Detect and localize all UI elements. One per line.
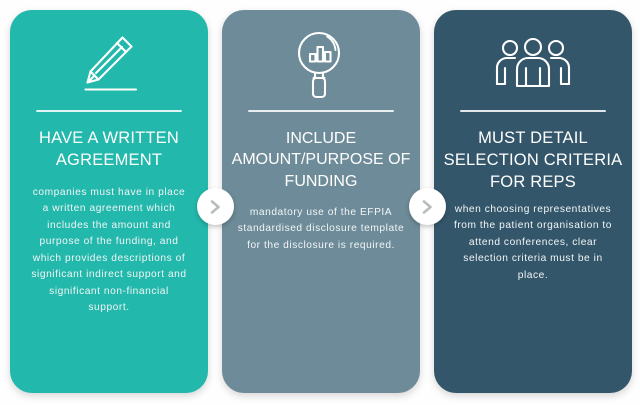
infographic-canvas: HAVE A WRITTEN AGREEMENT companies must … — [0, 0, 640, 405]
card-heading: HAVE A WRITTEN AGREEMENT — [18, 128, 200, 172]
card-body: mandatory use of the EFPIA standardised … — [237, 205, 405, 255]
card-divider — [36, 110, 182, 112]
info-card-include-amount-purpose-of-funding[interactable]: INCLUDE AMOUNT/PURPOSE OF FUNDING mandat… — [222, 10, 420, 393]
chevron-right-icon — [420, 198, 435, 216]
info-card-must-detail-selection-criteria-for-reps[interactable]: MUST DETAIL SELECTION CRITERIA FOR REPS … — [434, 10, 632, 393]
card-body: companies must have in place a written a… — [28, 185, 190, 317]
connector-arrow-2[interactable] — [409, 188, 446, 225]
info-card-have-a-written-agreement[interactable]: HAVE A WRITTEN AGREEMENT companies must … — [10, 10, 208, 393]
chevron-right-icon — [208, 198, 223, 216]
card-heading: INCLUDE AMOUNT/PURPOSE OF FUNDING — [226, 128, 416, 192]
card-body: when choosing representatives from the p… — [447, 202, 619, 285]
card-divider — [248, 110, 394, 112]
card-divider — [460, 110, 606, 112]
magnifier-bar-chart-icon — [291, 22, 351, 108]
card-heading: MUST DETAIL SELECTION CRITERIA FOR REPS — [442, 128, 624, 194]
three-people-icon — [494, 22, 572, 108]
connector-arrow-1[interactable] — [197, 188, 234, 225]
pencil-icon — [73, 22, 145, 108]
